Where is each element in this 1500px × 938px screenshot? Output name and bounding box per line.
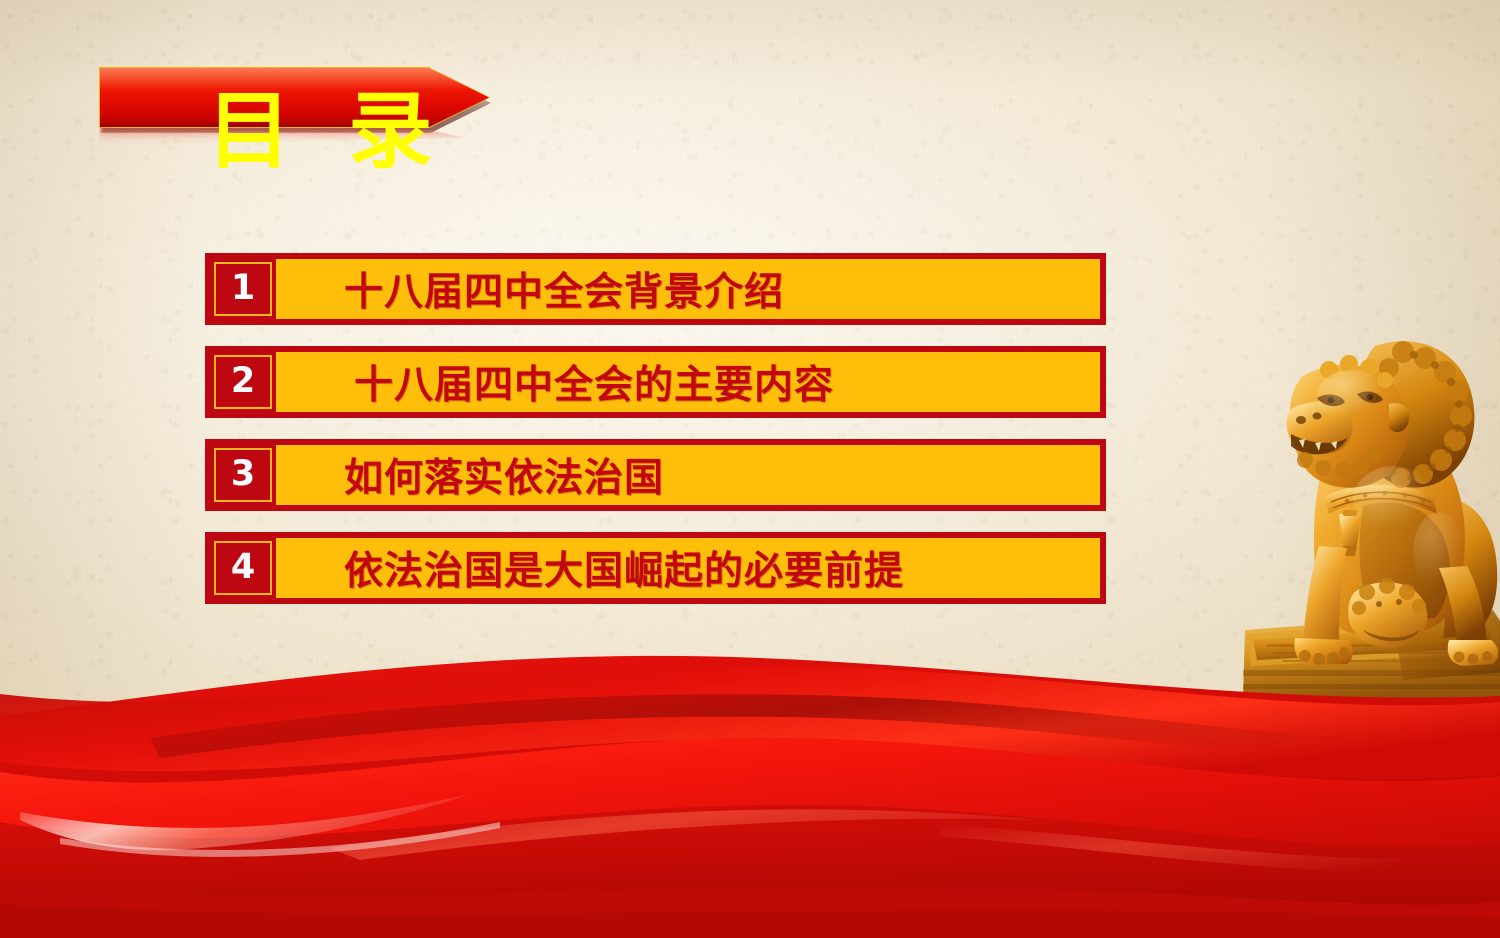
- toc-number-badge-2: 2: [210, 351, 276, 413]
- toc-item-4[interactable]: 4 依法治国是大国崛起的必要前提: [205, 532, 1106, 604]
- toc-label-2: 十八届四中全会的主要内容: [276, 352, 1100, 412]
- toc-number-badge-3: 3: [210, 444, 276, 506]
- toc-number-2: 2: [231, 364, 255, 401]
- toc-label-1: 十八届四中全会背景介绍: [276, 259, 1100, 319]
- toc-number-4: 4: [231, 550, 255, 587]
- toc-number-3: 3: [231, 457, 255, 494]
- slide-canvas: 目 录 1 十八届四中全会背景介绍 2 十八届四中全会的主要内容 3 如何落实依…: [0, 0, 1500, 938]
- toc-number-badge-1: 1: [210, 258, 276, 320]
- toc-item-3[interactable]: 3 如何落实依法治国: [205, 439, 1106, 511]
- section-title-banner: 目 录: [99, 67, 494, 187]
- table-of-contents-list: 1 十八届四中全会背景介绍 2 十八届四中全会的主要内容 3 如何落实依法治国 …: [205, 253, 1106, 604]
- red-silk-ribbon-wave: [0, 598, 1500, 938]
- toc-item-2[interactable]: 2 十八届四中全会的主要内容: [205, 346, 1106, 418]
- toc-label-4: 依法治国是大国崛起的必要前提: [276, 538, 1100, 598]
- page-title: 目 录: [207, 89, 446, 173]
- toc-item-1[interactable]: 1 十八届四中全会背景介绍: [205, 253, 1106, 325]
- toc-number-badge-4: 4: [210, 537, 276, 599]
- toc-label-3: 如何落实依法治国: [276, 445, 1100, 505]
- toc-number-1: 1: [231, 271, 255, 308]
